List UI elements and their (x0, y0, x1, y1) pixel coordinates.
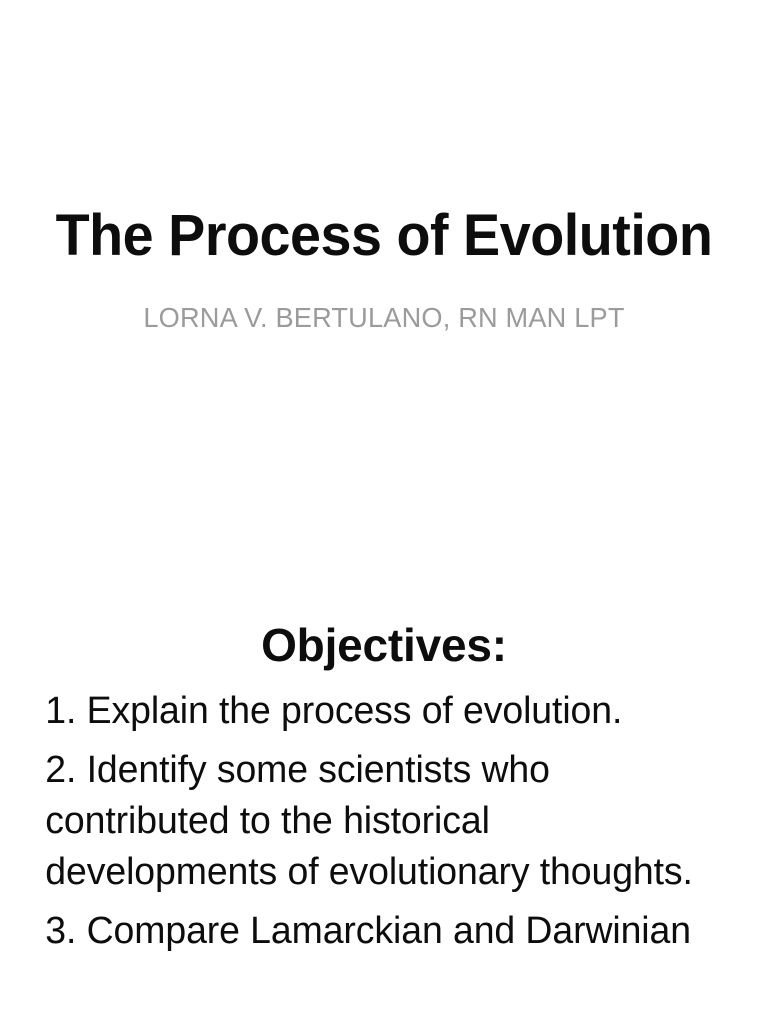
title-block: The Process of Evolution LORNA V. BERTUL… (0, 206, 768, 334)
list-item: 3. Compare Lamarckian and Darwinian (0, 906, 756, 957)
objectives-heading: Objectives: (0, 620, 768, 672)
list-item: 2. Identify some scientists who contribu… (0, 745, 756, 898)
objectives-list: 1. Explain the process of evolution. 2. … (0, 686, 768, 957)
list-item: 1. Explain the process of evolution. (0, 686, 756, 737)
page-title: The Process of Evolution (15, 206, 752, 267)
presentation-slide: The Process of Evolution LORNA V. BERTUL… (0, 0, 768, 1024)
objectives-section: Objectives: 1. Explain the process of ev… (0, 620, 768, 957)
presenter-subtitle: LORNA V. BERTULANO, RN MAN LPT (12, 303, 757, 334)
